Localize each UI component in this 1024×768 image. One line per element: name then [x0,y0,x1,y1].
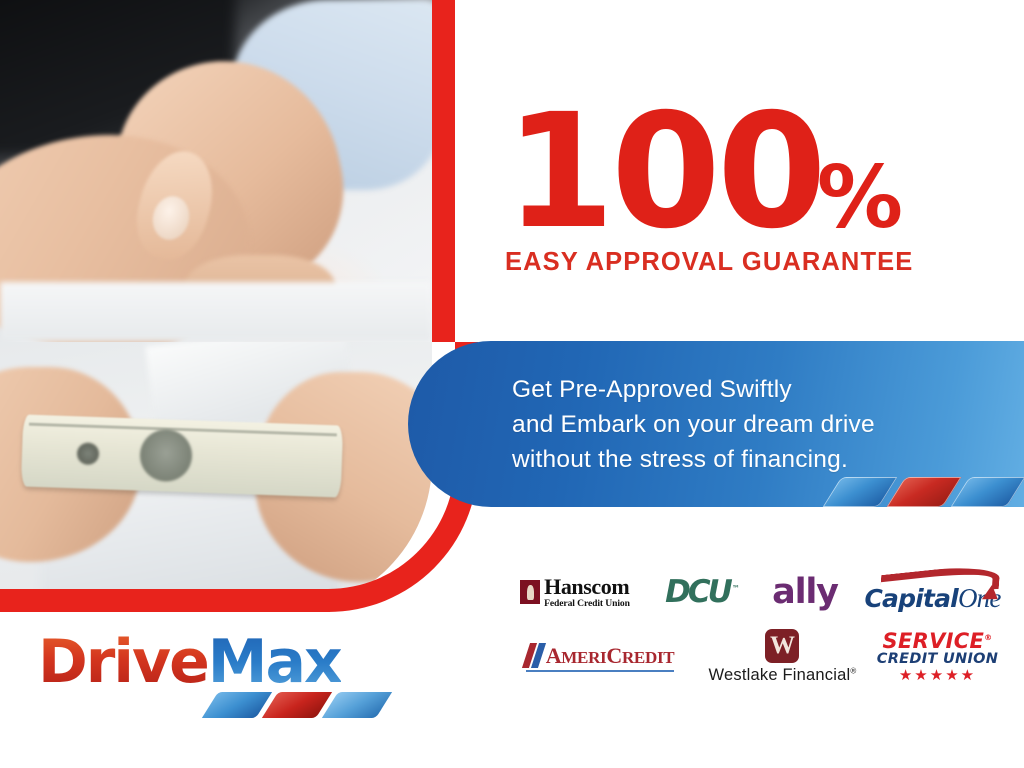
logo-chevron-red-icon [262,692,332,718]
lender-logo-service-credit-union: SERVICE® CREDIT UNION ★★★★★ [865,631,1010,683]
hanscom-minuteman-icon [520,580,540,604]
hero-photo-panel [0,0,432,612]
lender-logos: Hanscom Federal Credit Union DCU™ ally C… [500,566,1010,696]
drivemax-word-drive: Drive [38,627,208,697]
banner-chevron-decor [832,477,1016,507]
logo-chevron-blue-1-icon [202,692,272,718]
service-cu-line2: CREDIT UNION [877,652,998,667]
guarantee-subtitle: EASY APPROVAL GUARANTEE [505,248,905,277]
promo-text: Get Pre-Approved Swiftly and Embark on y… [512,373,875,477]
drivemax-logo[interactable]: DriveMax [38,632,341,692]
photo-dollar-bill [21,414,343,497]
red-bottom-bar [0,589,330,612]
cash-exchange-photo [0,342,432,612]
ally-name: ally [772,572,838,612]
westlake-monogram-icon: W [765,629,799,663]
drivemax-chevron-decor [210,692,384,718]
hanscom-subtitle: Federal Credit Union [544,599,630,609]
lender-logo-row-1: Hanscom Federal Credit Union DCU™ ally C… [500,566,1010,618]
lender-logo-dcu: DCU™ [650,574,755,610]
service-cu-registered: ® [984,633,992,642]
chevron-red-icon [887,477,962,507]
promo-banner: Get Pre-Approved Swiftly and Embark on y… [408,341,1024,507]
headline-block: 100 % EASY APPROVAL GUARANTEE [505,108,905,277]
drivemax-wordmark: DriveMax [38,632,341,692]
drivemax-word-max: Max [208,627,341,697]
percent-headline: 100 % [505,108,905,238]
lender-logo-row-2: AMERICREDIT W Westlake Financial® SERVIC… [500,624,1010,690]
hanscom-name: Hanscom [544,576,630,598]
americredit-name-a: A [546,643,562,668]
lender-logo-ally: ally [755,572,855,612]
logo-chevron-blue-2-icon [322,692,392,718]
headline-number: 100 [505,108,823,238]
americredit-name-meri: MERI [561,648,606,667]
bill-seal [77,442,100,465]
chevron-blue-1-icon [823,477,898,507]
percent-sign-icon: % [817,163,903,234]
lender-logo-capital-one: CapitalOne [855,571,1010,614]
service-cu-line1: SERVICE [883,629,985,653]
handshake-photo [0,0,432,342]
westlake-registered: ® [850,667,856,676]
chevron-blue-2-icon [951,477,1024,507]
lender-logo-westlake: W Westlake Financial® [700,629,865,685]
service-cu-stars-icon: ★★★★★ [877,668,998,683]
americredit-underline [526,670,675,672]
westlake-name: Westlake Financial [709,666,851,684]
lender-logo-americredit: AMERICREDIT [500,643,700,672]
dcu-name: DCU [665,574,730,610]
bill-edge-line [29,423,337,437]
americredit-name-redit: REDIT [622,648,674,667]
americredit-name-c: C [606,643,622,668]
americredit-slashes-icon [526,643,542,668]
dcu-trademark: ™ [732,584,740,593]
bill-portrait [139,429,193,483]
lender-logo-hanscom: Hanscom Federal Credit Union [500,576,650,609]
marketing-banner: 100 % EASY APPROVAL GUARANTEE Get Pre-Ap… [0,0,1024,768]
photo-desk-surface [0,282,432,342]
red-vertical-stripe [432,0,455,342]
